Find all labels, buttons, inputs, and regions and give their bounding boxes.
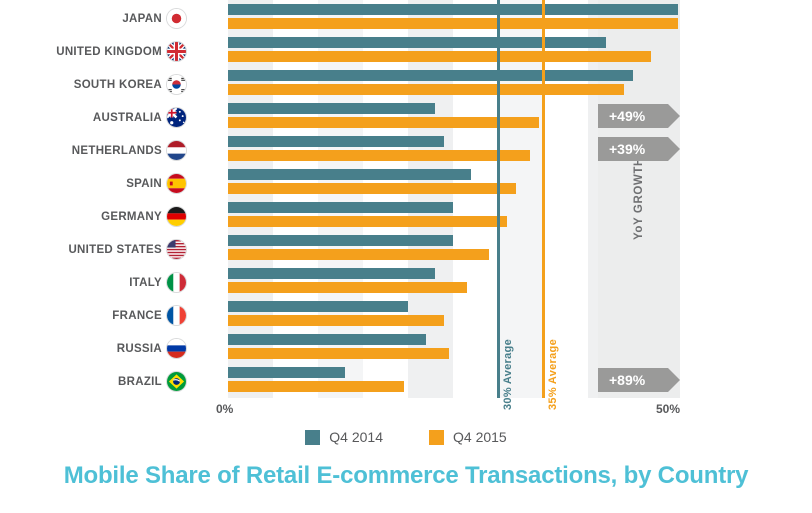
bar-q4-2014 <box>228 367 345 378</box>
bar-group <box>228 103 539 128</box>
legend-item-q4-2015[interactable]: Q4 2015 <box>429 429 507 445</box>
chart-row: NETHERLANDS <box>0 134 812 167</box>
bar-q4-2014 <box>228 268 435 279</box>
bar-group <box>228 235 489 260</box>
reference-line-avg-2014 <box>497 0 500 398</box>
bar-group <box>228 4 678 29</box>
bar-q4-2015 <box>228 381 404 392</box>
row-label-united-states: UNITED STATES <box>68 233 186 266</box>
reference-line-label-avg-2014: 30% Average <box>502 339 514 410</box>
reference-line-label-avg-2015: 35% Average <box>547 339 559 410</box>
row-label-brazil: BRAZIL <box>118 365 186 398</box>
chart-row: FRANCE <box>0 299 812 332</box>
chart-plot-area: YoY GROWTH JAPANUNITED KINGDOMSOUTH KORE… <box>0 0 812 418</box>
bar-q4-2014 <box>228 235 453 246</box>
growth-badge-brazil: +89% <box>598 368 680 392</box>
chart-row: UNITED STATES <box>0 233 812 266</box>
bar-group <box>228 136 530 161</box>
flag-us-icon <box>167 240 186 259</box>
chart-row: SOUTH KOREA <box>0 68 812 101</box>
country-name: BRAZIL <box>118 376 162 388</box>
flag-kr-icon <box>167 75 186 94</box>
bar-q4-2014 <box>228 37 606 48</box>
bar-q4-2014 <box>228 70 633 81</box>
chart-row: ITALY <box>0 266 812 299</box>
bar-q4-2014 <box>228 301 408 312</box>
bar-q4-2015 <box>228 315 444 326</box>
axis-tick-max: 50% <box>656 402 680 416</box>
flag-es-icon <box>167 174 186 193</box>
country-name: NETHERLANDS <box>72 145 162 157</box>
country-name: SPAIN <box>126 178 162 190</box>
bar-group <box>228 334 449 359</box>
bar-q4-2015 <box>228 150 530 161</box>
country-name: FRANCE <box>112 310 162 322</box>
growth-badge-netherlands: +39% <box>598 137 680 161</box>
flag-br-icon <box>167 372 186 391</box>
chart-row: AUSTRALIA <box>0 101 812 134</box>
bar-q4-2014 <box>228 334 426 345</box>
flag-it-icon <box>167 273 186 292</box>
country-name: SOUTH KOREA <box>74 79 162 91</box>
country-name: JAPAN <box>122 13 162 25</box>
square-swatch-orange <box>429 430 444 445</box>
chart-row: BRAZIL <box>0 365 812 398</box>
bar-q4-2014 <box>228 169 471 180</box>
bar-q4-2014 <box>228 103 435 114</box>
bar-q4-2015 <box>228 117 539 128</box>
bar-q4-2015 <box>228 18 678 29</box>
bar-q4-2014 <box>228 4 678 15</box>
country-name: ITALY <box>129 277 162 289</box>
row-label-spain: SPAIN <box>126 167 186 200</box>
bar-group <box>228 169 516 194</box>
bar-q4-2015 <box>228 249 489 260</box>
bar-q4-2015 <box>228 84 624 95</box>
flag-fr-icon <box>167 306 186 325</box>
bar-q4-2015 <box>228 216 507 227</box>
flag-de-icon <box>167 207 186 226</box>
axis-tick-min: 0% <box>216 402 233 416</box>
square-swatch-teal <box>305 430 320 445</box>
row-label-australia: AUSTRALIA <box>93 101 186 134</box>
row-label-united-kingdom: UNITED KINGDOM <box>56 35 186 68</box>
bar-q4-2015 <box>228 282 467 293</box>
row-label-japan: JAPAN <box>122 2 186 35</box>
legend-label: Q4 2014 <box>329 429 383 445</box>
row-label-netherlands: NETHERLANDS <box>72 134 186 167</box>
flag-gb-icon <box>167 42 186 61</box>
bar-q4-2015 <box>228 183 516 194</box>
flag-ru-icon <box>167 339 186 358</box>
row-label-france: FRANCE <box>112 299 186 332</box>
growth-badge-australia: +49% <box>598 104 680 128</box>
bar-q4-2014 <box>228 136 444 147</box>
row-label-germany: GERMANY <box>101 200 186 233</box>
flag-nl-icon <box>167 141 186 160</box>
chart-row: GERMANY <box>0 200 812 233</box>
bar-group <box>228 367 404 392</box>
country-name: RUSSIA <box>117 343 162 355</box>
flag-jp-icon <box>167 9 186 28</box>
country-name: UNITED STATES <box>68 244 162 256</box>
bar-group <box>228 37 651 62</box>
country-name: AUSTRALIA <box>93 112 162 124</box>
bar-group <box>228 70 633 95</box>
bar-group <box>228 301 444 326</box>
legend-label: Q4 2015 <box>453 429 507 445</box>
chart-legend: Q4 2014Q4 2015 <box>0 418 812 456</box>
country-name: UNITED KINGDOM <box>56 46 162 58</box>
chart-row: UNITED KINGDOM <box>0 35 812 68</box>
row-label-italy: ITALY <box>129 266 186 299</box>
chart-row: SPAIN <box>0 167 812 200</box>
bar-q4-2014 <box>228 202 453 213</box>
row-label-south-korea: SOUTH KOREA <box>74 68 186 101</box>
flag-au-icon <box>167 108 186 127</box>
bar-group <box>228 268 467 293</box>
reference-line-avg-2015 <box>542 0 545 398</box>
bar-q4-2015 <box>228 51 651 62</box>
row-label-russia: RUSSIA <box>117 332 186 365</box>
legend-item-q4-2014[interactable]: Q4 2014 <box>305 429 383 445</box>
bar-q4-2015 <box>228 348 449 359</box>
chart-row: RUSSIA <box>0 332 812 365</box>
page-title: Mobile Share of Retail E-commerce Transa… <box>0 462 812 490</box>
chart-row: JAPAN <box>0 2 812 35</box>
country-name: GERMANY <box>101 211 162 223</box>
bar-group <box>228 202 507 227</box>
